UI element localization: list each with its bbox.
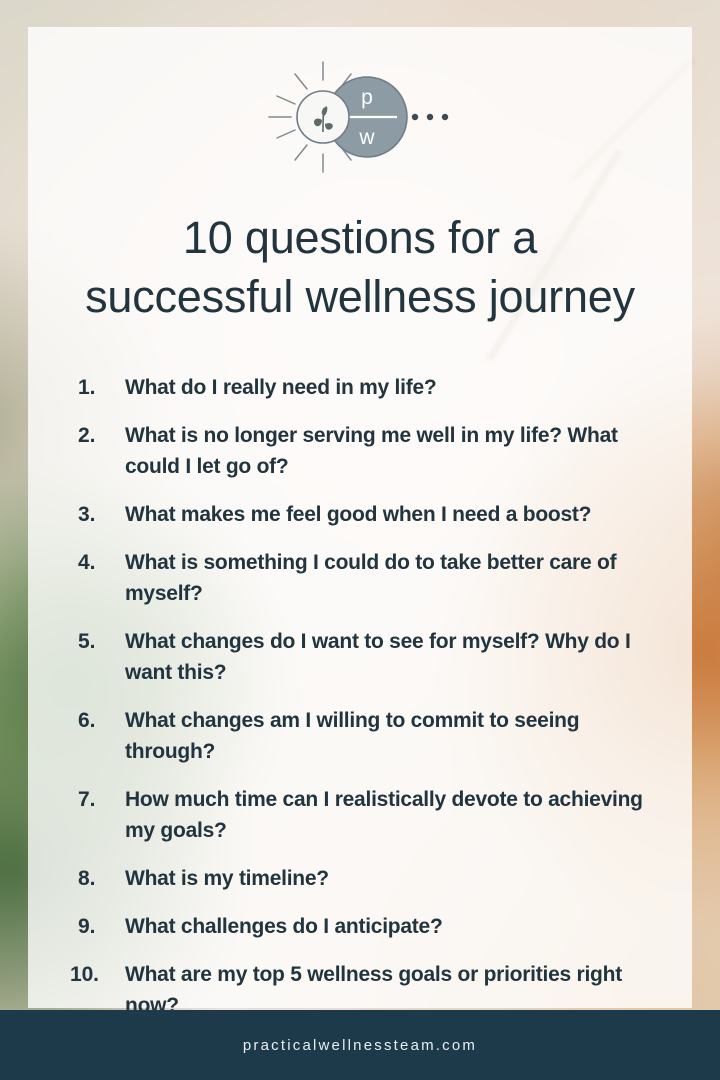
question-text: What challenges do I anticipate?: [125, 911, 654, 942]
page-title-line-2: successful wellness journey: [50, 267, 670, 326]
logo-letter-w: w: [358, 126, 375, 149]
page-title: 10 questions for a successful wellness j…: [50, 208, 670, 327]
question-text: What makes me feel good when I need a bo…: [125, 499, 654, 530]
question-number: 3.: [78, 499, 125, 530]
website-url[interactable]: practicalwellnessteam.com: [243, 1037, 477, 1054]
footer-bar: practicalwellnessteam.com: [0, 1010, 720, 1080]
logo-dots-icon: [412, 114, 448, 120]
question-text: What changes am I willing to commit to s…: [125, 705, 654, 767]
list-item: 3. What makes me feel good when I need a…: [0, 499, 720, 530]
list-item: 7. How much time can I realistically dev…: [0, 784, 720, 846]
question-text: What is my timeline?: [125, 863, 654, 894]
list-item: 2. What is no longer serving me well in …: [0, 420, 720, 482]
question-number: 7.: [78, 784, 125, 815]
question-number: 10.: [70, 959, 125, 990]
question-text: What changes do I want to see for myself…: [125, 626, 654, 688]
question-number: 1.: [78, 372, 125, 403]
page-title-line-1: 10 questions for a: [50, 208, 670, 267]
question-text: What is something I could do to take bet…: [125, 547, 654, 609]
question-number: 2.: [78, 420, 125, 451]
list-item: 9. What challenges do I anticipate?: [0, 911, 720, 942]
logo-letter-p: p: [361, 86, 373, 109]
question-number: 4.: [78, 547, 125, 578]
question-number: 8.: [78, 863, 125, 894]
question-list: 1. What do I really need in my life? 2. …: [0, 372, 720, 1038]
list-item: 5. What changes do I want to see for mys…: [0, 626, 720, 688]
question-number: 5.: [78, 626, 125, 657]
question-text: How much time can I realistically devote…: [125, 784, 654, 846]
list-item: 8. What is my timeline?: [0, 863, 720, 894]
list-item: 1. What do I really need in my life?: [0, 372, 720, 403]
practical-wellness-logo-icon: p w: [255, 58, 465, 176]
question-number: 6.: [78, 705, 125, 736]
question-text: What do I really need in my life?: [125, 372, 654, 403]
question-number: 9.: [78, 911, 125, 942]
question-text: What is no longer serving me well in my …: [125, 420, 654, 482]
list-item: 6. What changes am I willing to commit t…: [0, 705, 720, 767]
list-item: 4. What is something I could do to take …: [0, 547, 720, 609]
poster-canvas: p w 10 questions for a successful wellne…: [0, 0, 720, 1080]
logo: p w: [0, 58, 720, 176]
